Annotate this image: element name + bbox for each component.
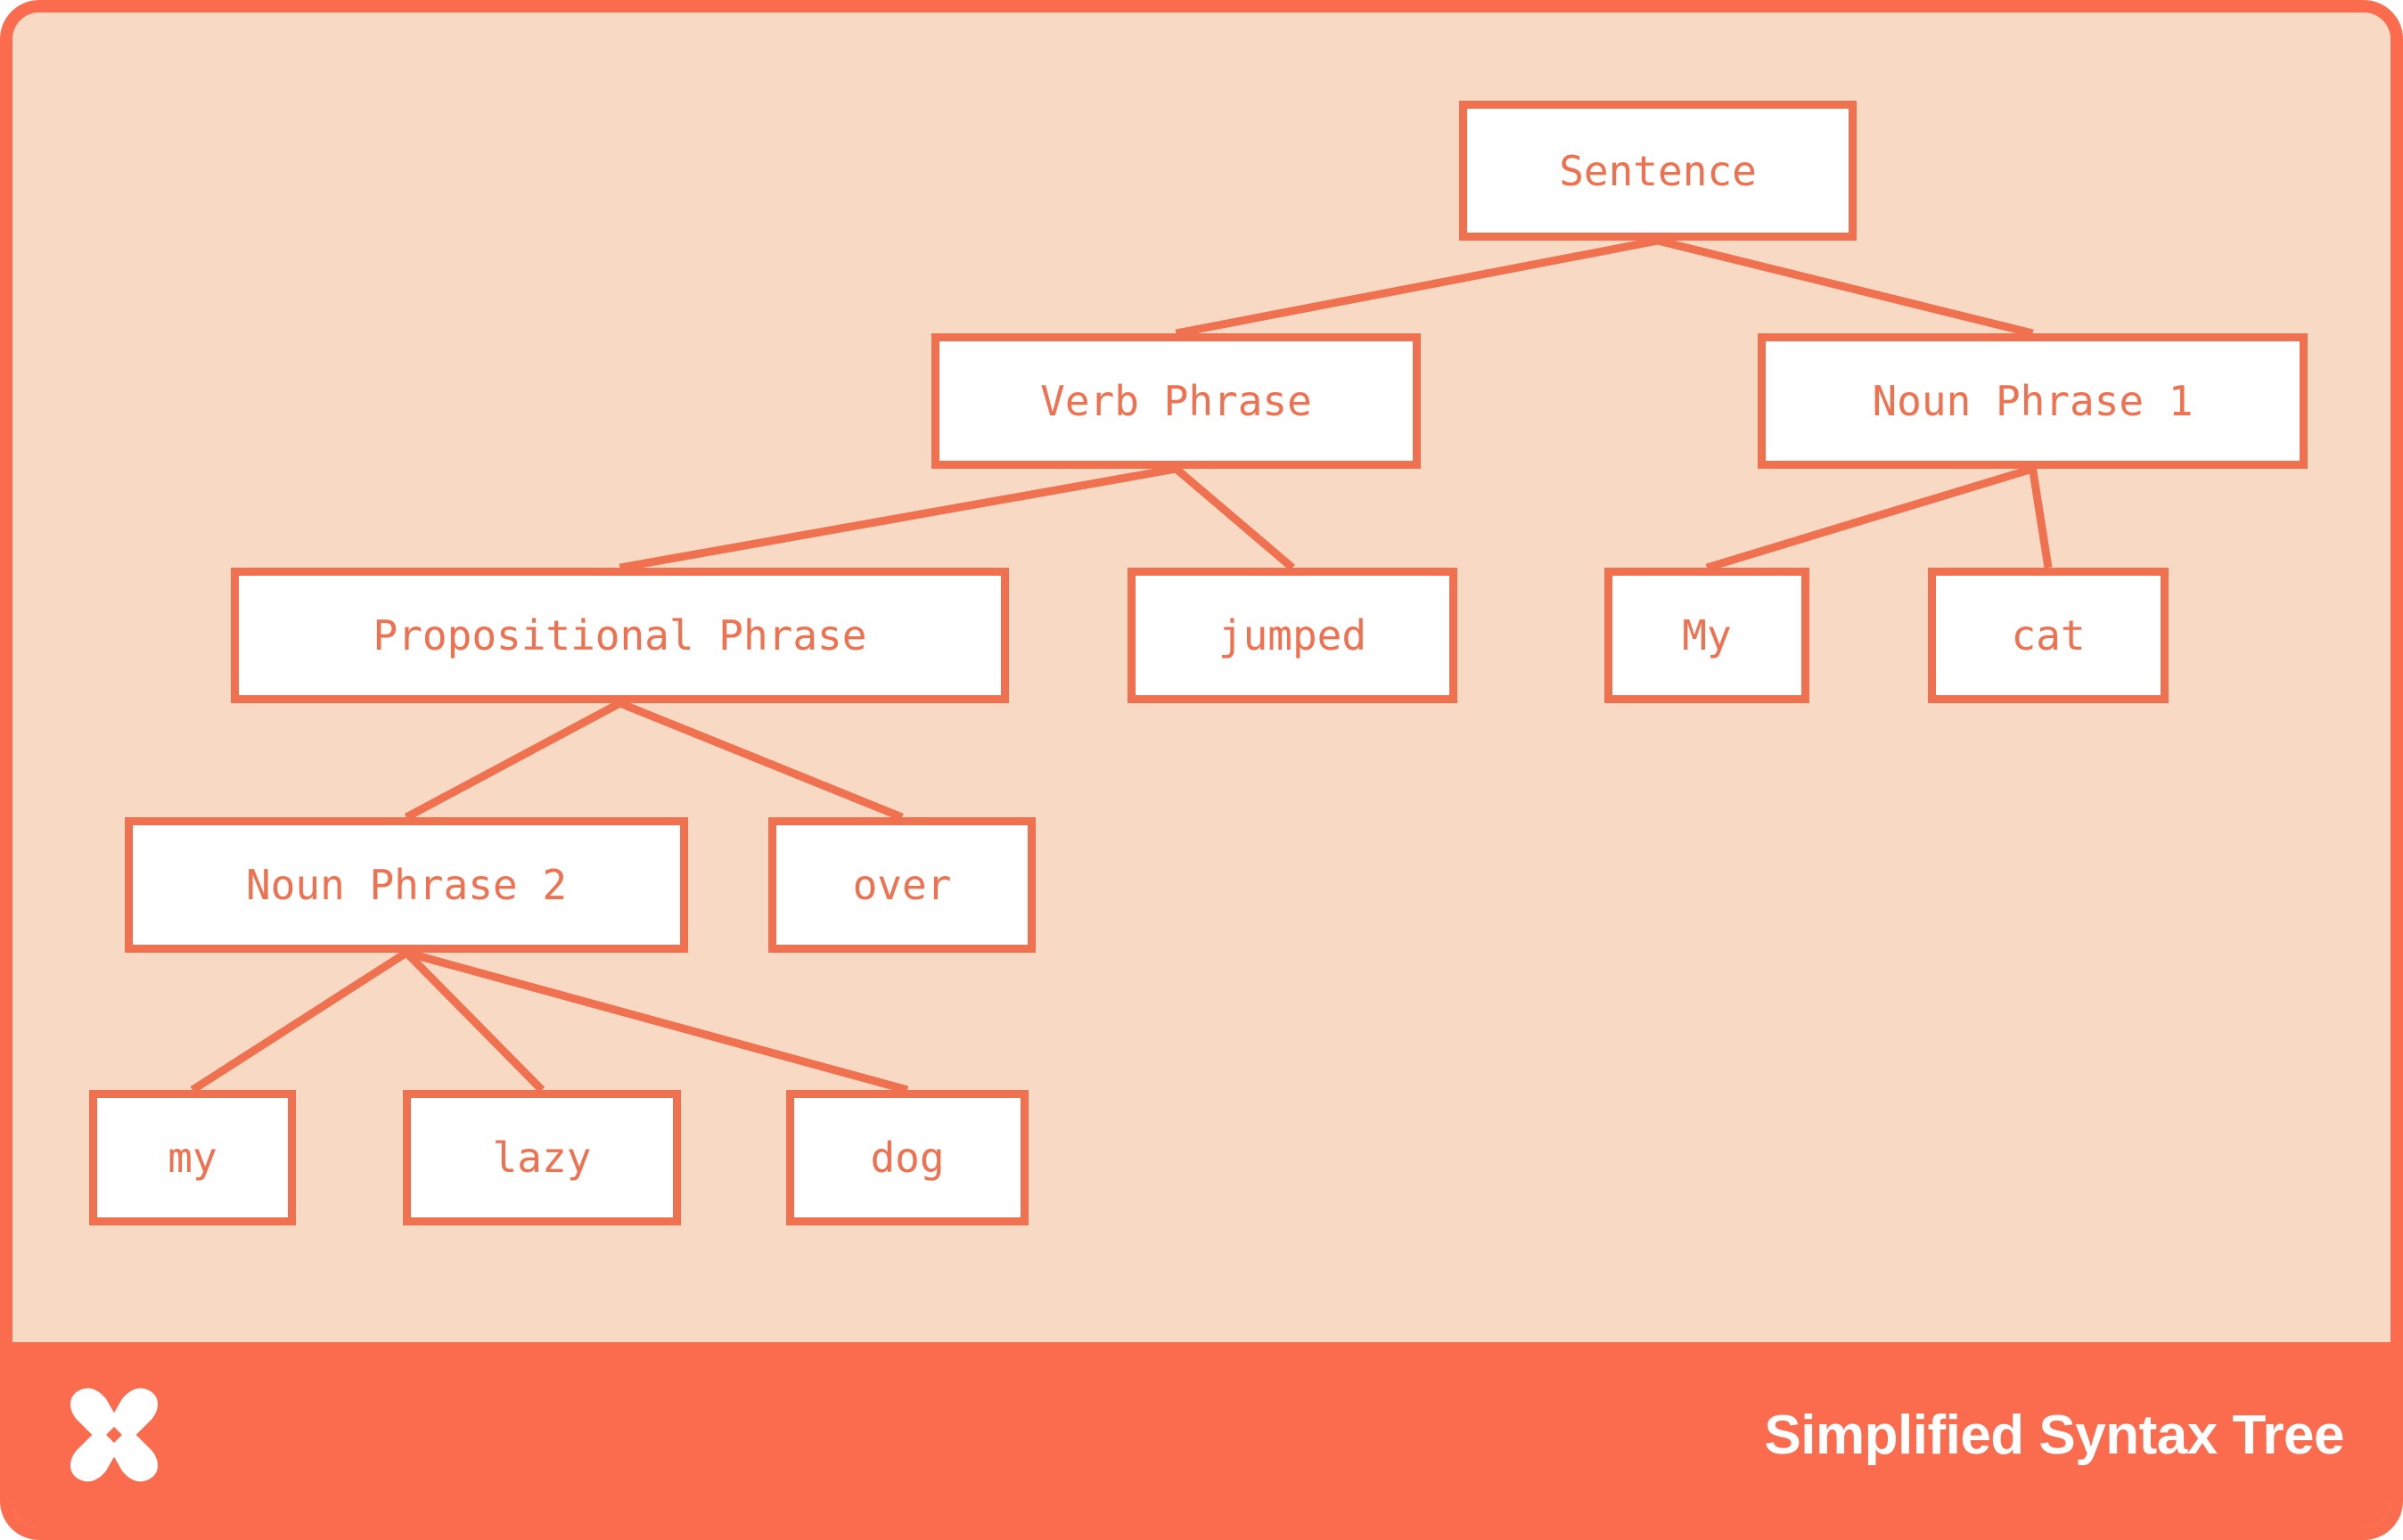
tree-node-label: Noun Phrase 2 bbox=[246, 864, 567, 905]
tree-edge-noun-phrase-2-to-dog bbox=[406, 953, 907, 1090]
tree-node-jumped[interactable]: jumped bbox=[1128, 568, 1457, 703]
tree-node-label: cat bbox=[2011, 615, 2085, 656]
tree-node-over[interactable]: over bbox=[768, 817, 1036, 953]
tree-edge-noun-phrase-2-to-my-lower bbox=[193, 953, 406, 1090]
tree-node-noun-phrase-1[interactable]: Noun Phrase 1 bbox=[1758, 333, 2308, 469]
tree-node-cat[interactable]: cat bbox=[1928, 568, 2169, 703]
tree-node-dog[interactable]: dog bbox=[786, 1090, 1029, 1225]
tree-edge-verb-phrase-to-jumped bbox=[1177, 469, 1293, 568]
tree-node-my-lower[interactable]: my bbox=[89, 1090, 296, 1225]
tree-node-label: My bbox=[1682, 615, 1731, 656]
tree-node-my-det[interactable]: My bbox=[1604, 568, 1809, 703]
x-butterfly-logo bbox=[64, 1385, 164, 1485]
tree-node-label: over bbox=[853, 864, 952, 905]
tree-edge-prop-phrase-to-over bbox=[620, 703, 903, 817]
tree-edge-prop-phrase-to-noun-phrase-2 bbox=[406, 703, 620, 817]
footer-bar: Simplified Syntax Tree bbox=[12, 1342, 2403, 1528]
tree-node-prop-phrase[interactable]: Propositional Phrase bbox=[231, 568, 1009, 703]
tree-node-label: lazy bbox=[493, 1137, 592, 1178]
tree-edge-sentence-to-noun-phrase-1 bbox=[1658, 241, 2033, 333]
tree-node-sentence[interactable]: Sentence bbox=[1459, 101, 1857, 241]
tree-node-label: Verb Phrase bbox=[1040, 381, 1312, 422]
tree-edge-noun-phrase-2-to-lazy bbox=[406, 953, 542, 1090]
tree-edge-noun-phrase-1-to-cat bbox=[2033, 469, 2049, 568]
tree-node-label: jumped bbox=[1218, 615, 1366, 656]
tree-edge-verb-phrase-to-prop-phrase bbox=[620, 469, 1177, 568]
tree-node-label: Noun Phrase 1 bbox=[1872, 381, 2193, 422]
tree-connectors bbox=[0, 0, 2403, 1540]
diagram-card: SentenceVerb PhraseNoun Phrase 1Proposit… bbox=[0, 0, 2403, 1540]
tree-node-lazy[interactable]: lazy bbox=[403, 1090, 681, 1225]
tree-node-verb-phrase[interactable]: Verb Phrase bbox=[931, 333, 1421, 469]
footer-title: Simplified Syntax Tree bbox=[1764, 1404, 2344, 1467]
tree-node-noun-phrase-2[interactable]: Noun Phrase 2 bbox=[125, 817, 688, 953]
tree-edge-noun-phrase-1-to-my-det bbox=[1707, 469, 2033, 568]
diagram-canvas: SentenceVerb PhraseNoun Phrase 1Proposit… bbox=[0, 0, 2403, 1540]
tree-edge-sentence-to-verb-phrase bbox=[1177, 241, 1659, 333]
tree-node-label: Sentence bbox=[1559, 151, 1757, 192]
tree-node-label: dog bbox=[870, 1137, 944, 1178]
tree-node-label: Propositional Phrase bbox=[373, 615, 867, 656]
tree-node-label: my bbox=[168, 1137, 217, 1178]
